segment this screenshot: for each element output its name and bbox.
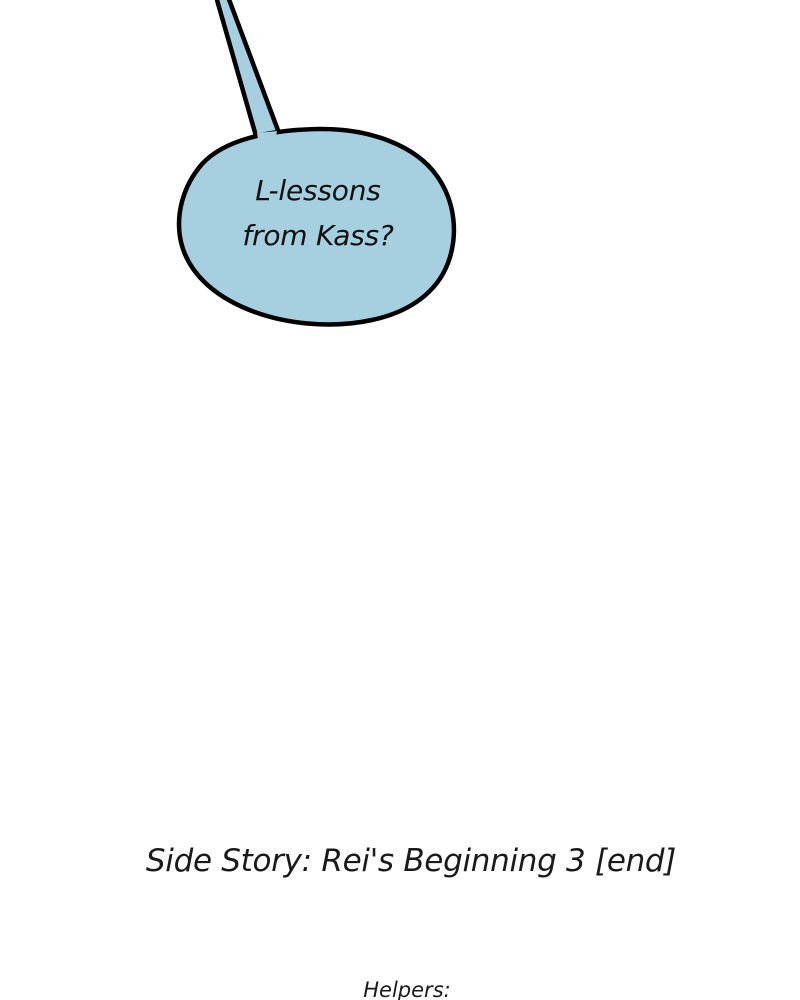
comic-page: L-lessonsfrom Kass? Side Story: Rei's Be… [0, 0, 800, 1000]
balloon-dialogue: L-lessonsfrom Kass? [182, 168, 454, 259]
chapter-end-title: Side Story: Rei's Beginning 3 [end] [0, 843, 800, 880]
balloon-dialogue-line-2: from Kass? [242, 219, 393, 252]
balloon-tail-icon [213, 0, 279, 136]
balloon-tail-junction [257, 131, 277, 145]
credits-heading: Helpers: [0, 978, 800, 1000]
balloon-dialogue-line-1: L-lessons [255, 174, 380, 207]
